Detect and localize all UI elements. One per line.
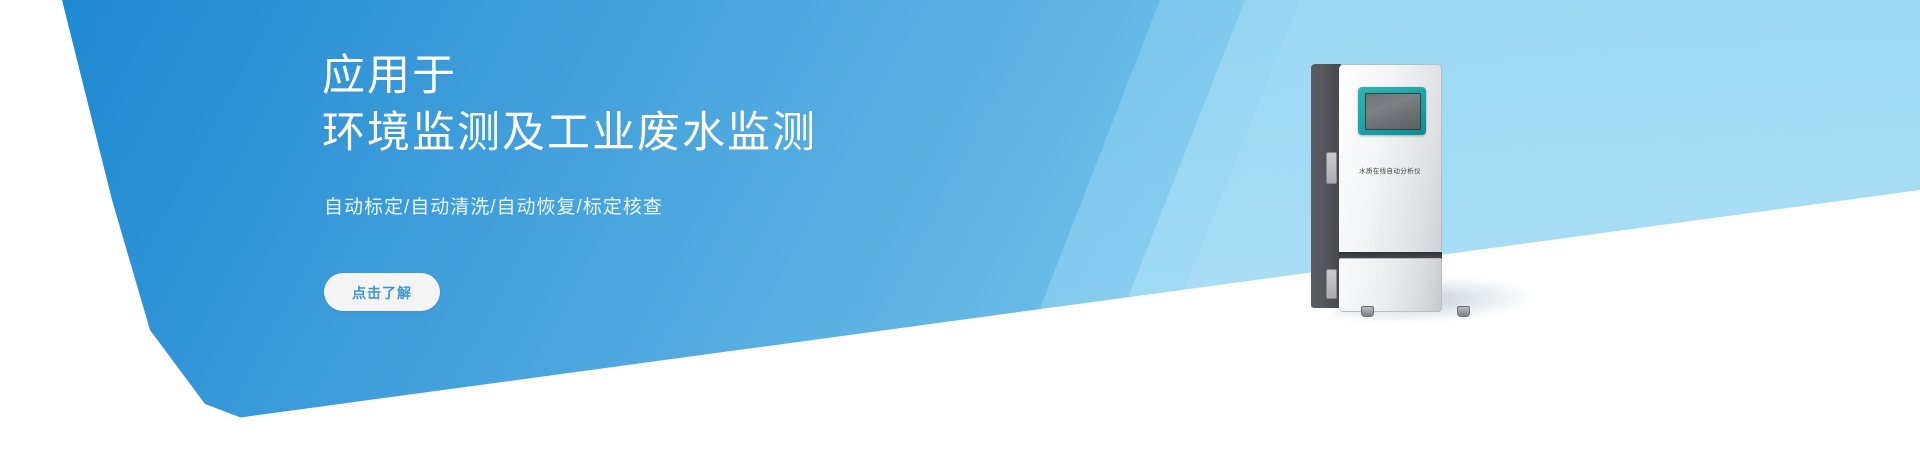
device-screen bbox=[1365, 93, 1421, 130]
page-title: 应用于 环境监测及工业废水监测 bbox=[322, 48, 1082, 162]
learn-more-button[interactable]: 点击了解 bbox=[324, 273, 440, 311]
product-image-water-quality-analyzer: 水质在线自动分析仪 bbox=[1303, 62, 1478, 312]
cabinet-lower-drawer bbox=[1339, 258, 1442, 312]
caster-left bbox=[1361, 306, 1374, 317]
cabinet-upper-handle bbox=[1326, 152, 1337, 184]
cabinet-lower-handle bbox=[1326, 269, 1337, 299]
hero-banner: 应用于 环境监测及工业废水监测 自动标定/自动清洗/自动恢复/标定核查 点击了解… bbox=[0, 0, 1920, 450]
cabinet-side-panel bbox=[1311, 64, 1341, 308]
banner-subtitle: 自动标定/自动清洗/自动恢复/标定核查 bbox=[324, 192, 1082, 219]
banner-copy-block: 应用于 环境监测及工业废水监测 自动标定/自动清洗/自动恢复/标定核查 点击了解 bbox=[322, 48, 1082, 311]
headline-line-1: 应用于 bbox=[322, 52, 457, 100]
caster-right bbox=[1457, 306, 1470, 317]
headline-line-2: 环境监测及工业废水监测 bbox=[322, 105, 1082, 162]
device-model-label: 水质在线自动分析仪 bbox=[1339, 165, 1441, 175]
